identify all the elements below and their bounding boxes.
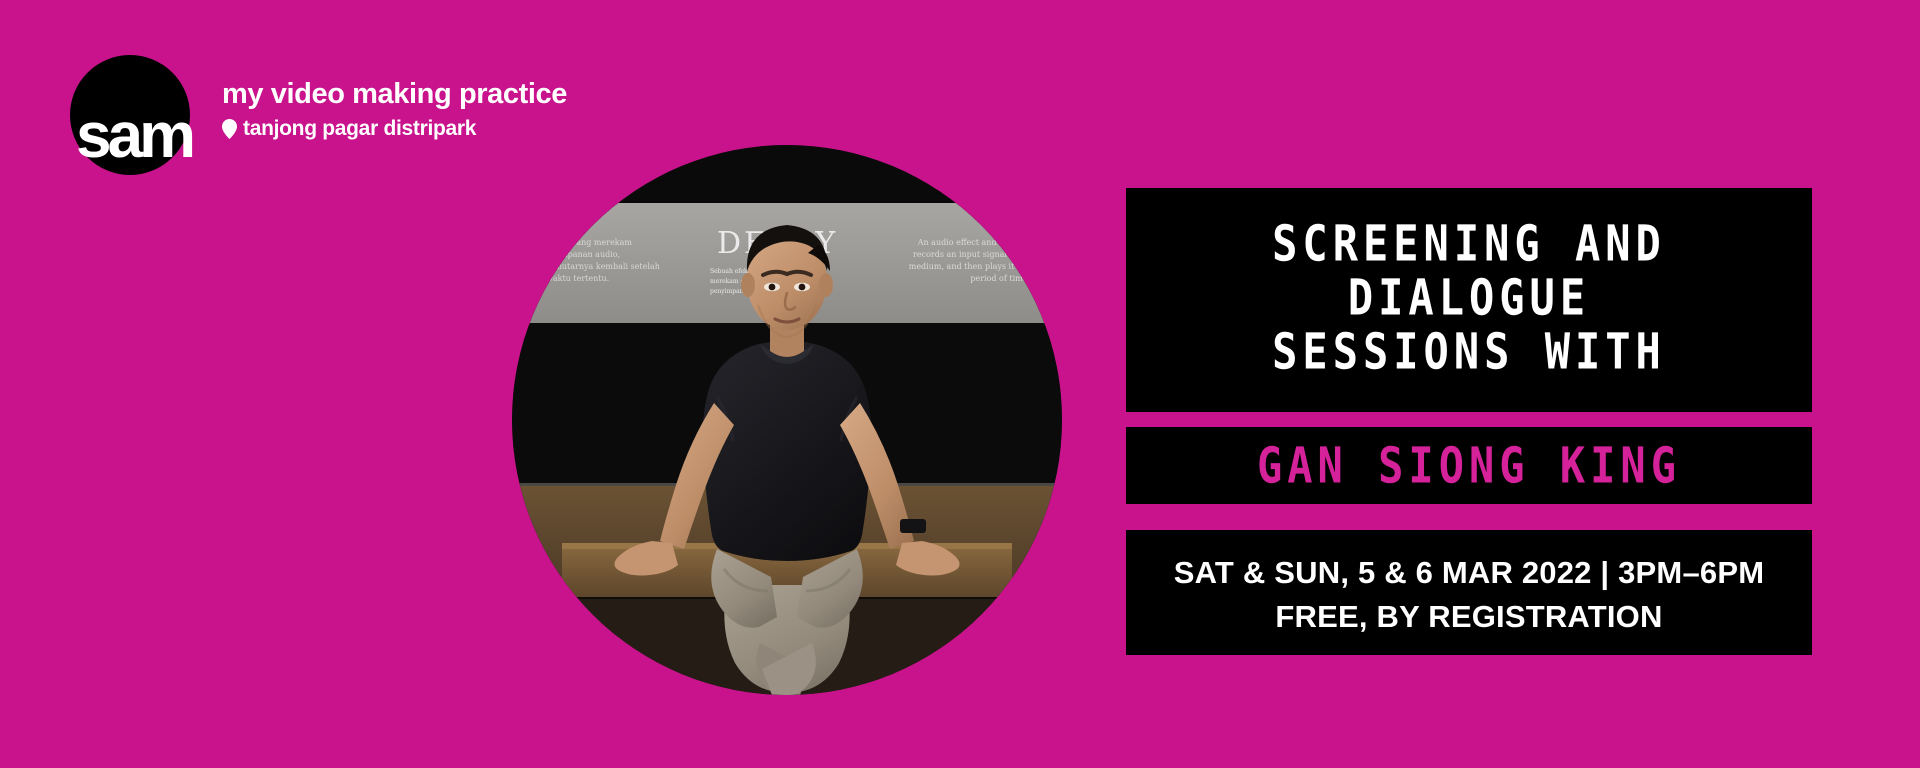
event-admission: FREE, BY REGISTRATION bbox=[1275, 596, 1662, 638]
svg-text:memutarnya kembali setelah: memutarnya kembali setelah bbox=[542, 262, 660, 271]
headline-line-3: SESSIONS WITH bbox=[1272, 321, 1666, 382]
svg-text:…efek yang merekam: …efek yang merekam bbox=[544, 238, 632, 247]
headline-line-1: SCREENING AND bbox=[1272, 213, 1666, 274]
sam-logo-mark[interactable]: sam bbox=[70, 55, 190, 175]
svg-text:An audio effect and an eff…: An audio effect and an eff… bbox=[917, 238, 1030, 247]
artist-name-panel: GAN SIONG KING bbox=[1126, 427, 1812, 504]
artist-name: GAN SIONG KING bbox=[1257, 436, 1681, 495]
sam-logo-block[interactable]: sam my video making practice tanjong pag… bbox=[70, 55, 690, 175]
event-details-panel: SAT & SUN, 5 & 6 MAR 2022 | 3PM–6PM FREE… bbox=[1126, 530, 1812, 655]
organisation-title: my video making practice bbox=[222, 77, 692, 111]
artist-photo: …efek yang merekam penyimpanan audio, me… bbox=[512, 145, 1062, 695]
svg-text:penyimpanan audio,: penyimpanan audio, bbox=[538, 250, 620, 259]
svg-text:medium, and then plays it b…: medium, and then plays it b… bbox=[909, 262, 1030, 271]
headline-line-2: DIALOGUE bbox=[1348, 267, 1590, 328]
event-info-panels: SCREENING AND DIALOGUE SESSIONS WITH GAN… bbox=[1126, 188, 1812, 655]
venue-row: tanjong pagar distripark bbox=[222, 117, 692, 141]
venue-label: tanjong pagar distripark bbox=[243, 117, 476, 141]
logo-text-group: my video making practice tanjong pagar d… bbox=[222, 77, 692, 141]
svg-text:records an input signal to an: records an input signal to an bbox=[913, 250, 1030, 259]
svg-text:waktu tertentu.: waktu tertentu. bbox=[546, 274, 609, 283]
svg-text:period of time.: period of time. bbox=[970, 274, 1030, 283]
location-pin-icon bbox=[222, 119, 237, 139]
event-banner: sam my video making practice tanjong pag… bbox=[0, 0, 1920, 768]
sam-wordmark: sam bbox=[64, 107, 204, 163]
event-datetime: SAT & SUN, 5 & 6 MAR 2022 | 3PM–6PM bbox=[1174, 552, 1765, 594]
headline-panel: SCREENING AND DIALOGUE SESSIONS WITH bbox=[1126, 188, 1812, 412]
